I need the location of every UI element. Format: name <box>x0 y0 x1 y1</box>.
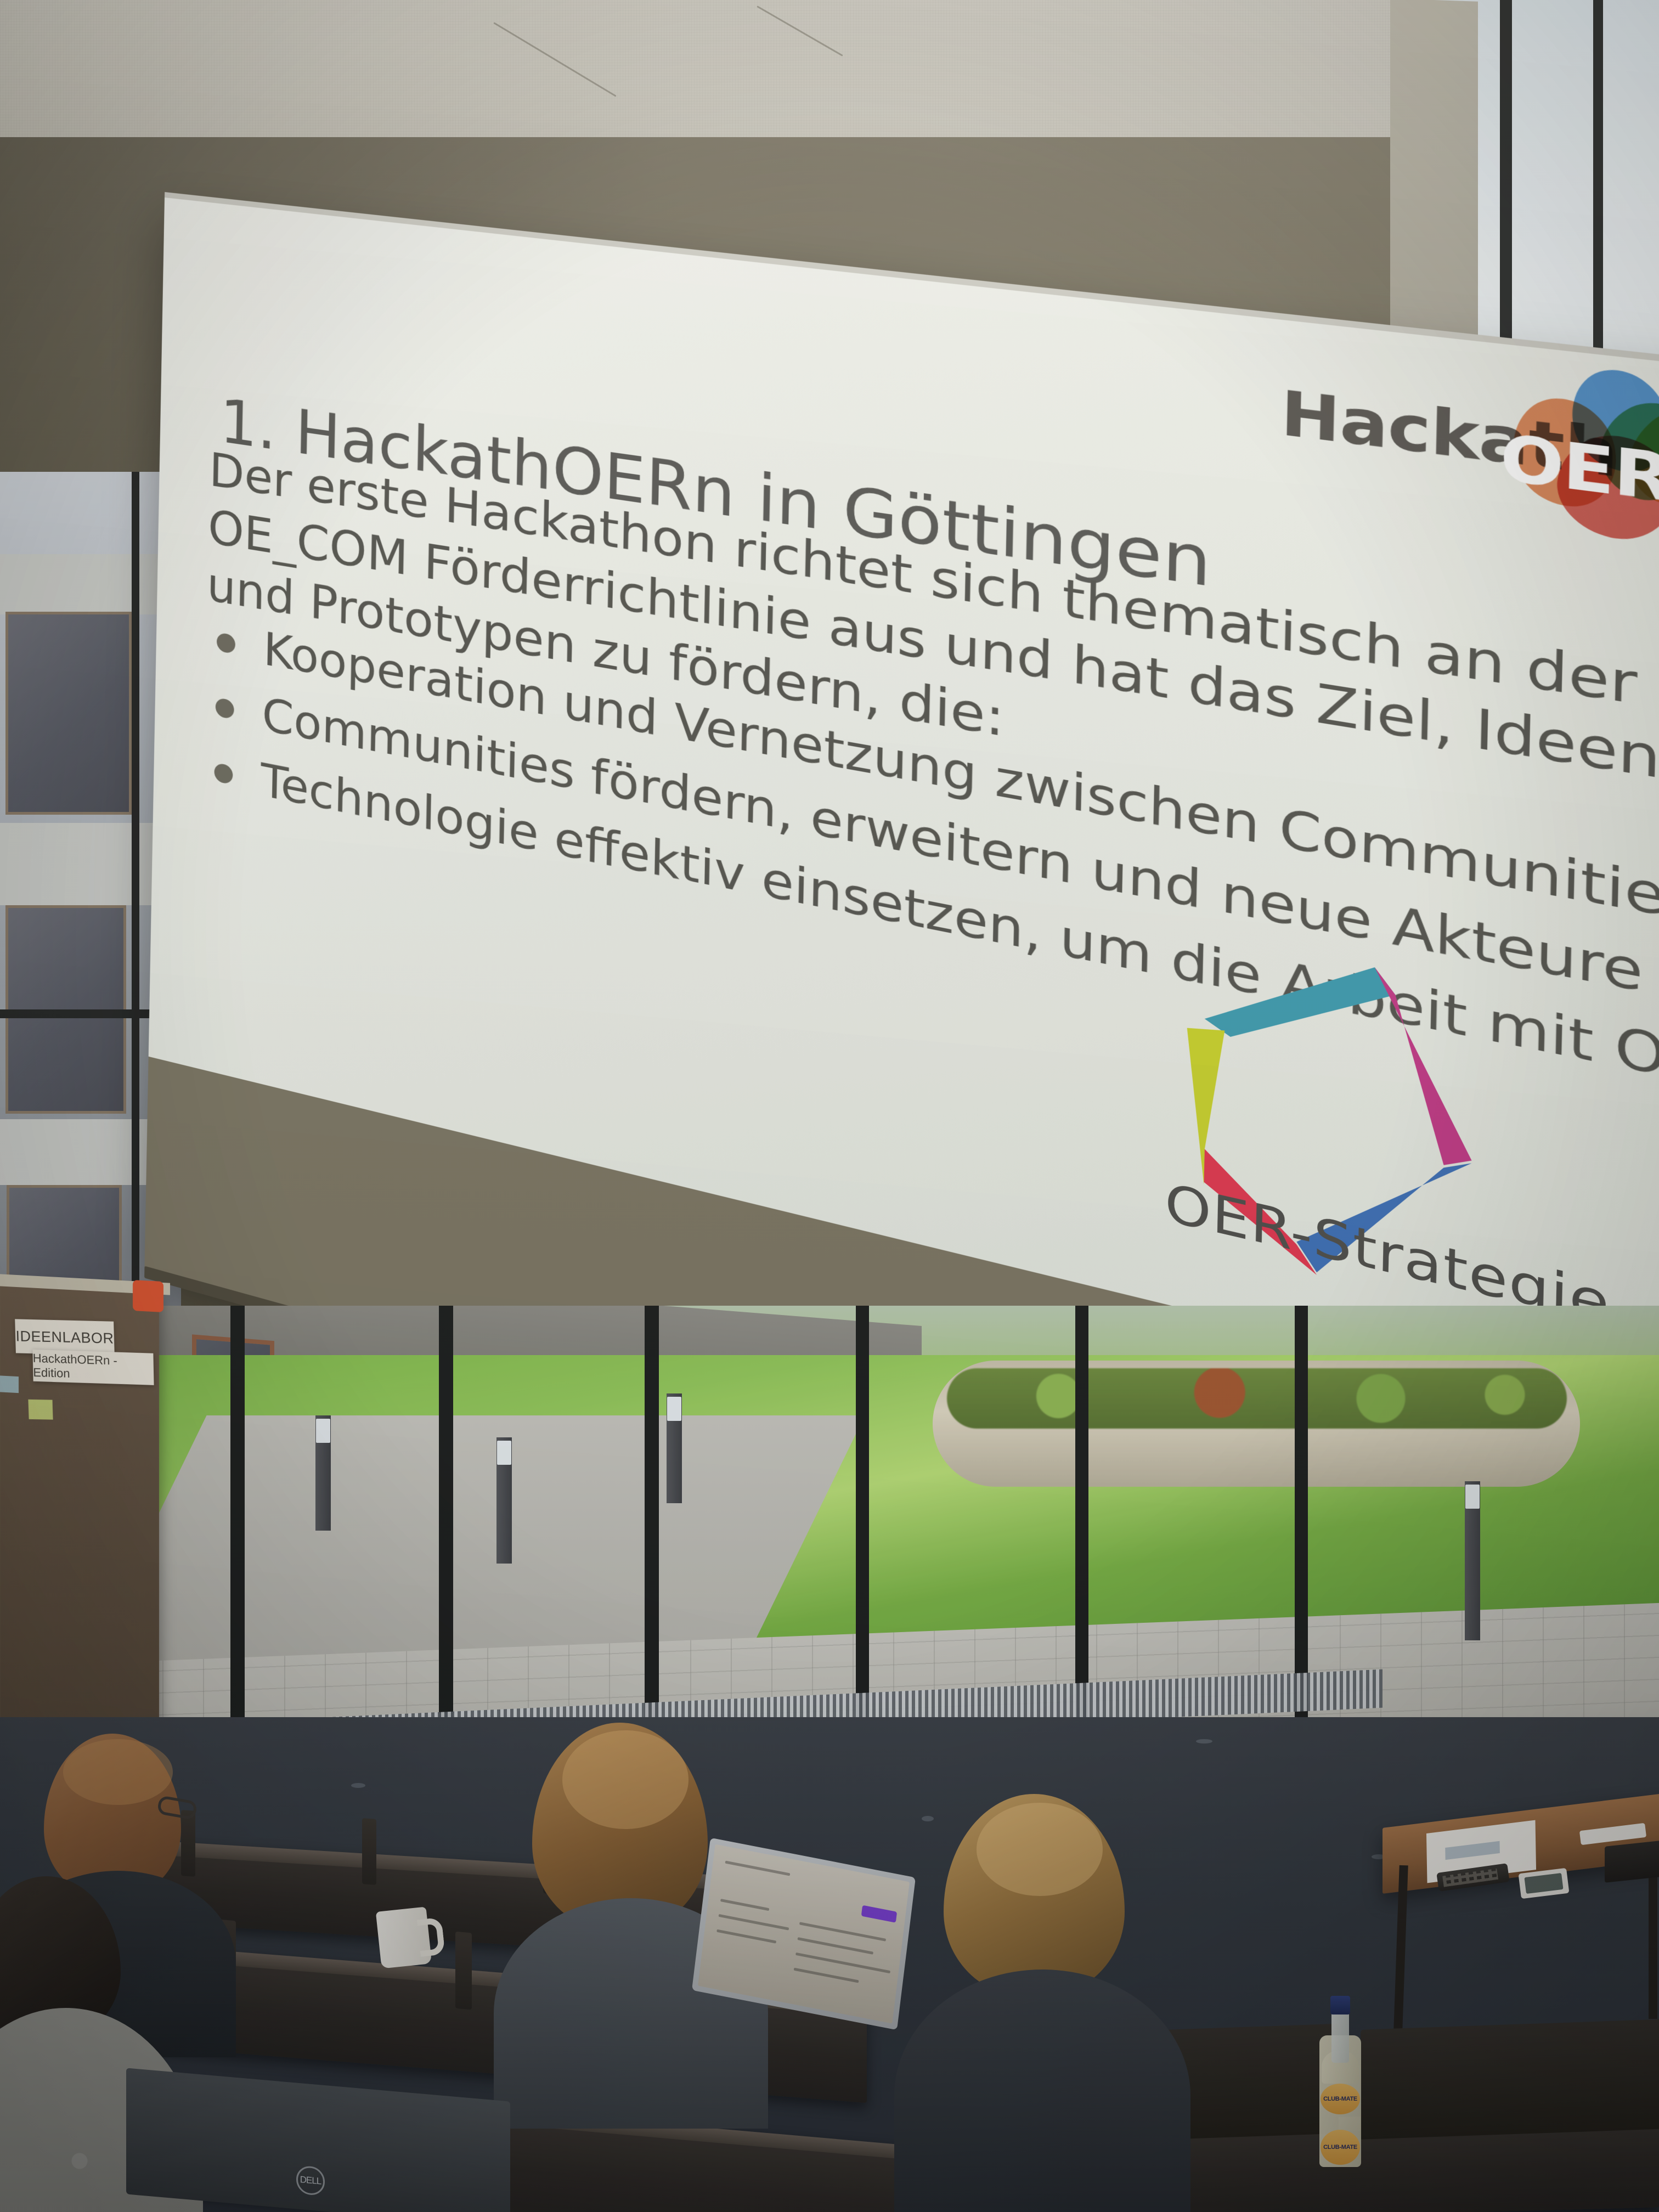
pinboard-sticky-note <box>28 1400 53 1420</box>
hackathoern-logo-blobs: OERn <box>1481 356 1659 552</box>
bottle-neck <box>1331 2008 1349 2063</box>
laptop-screen-accent-button <box>861 1905 897 1923</box>
bottle-label-bottom: CLUB-MATE <box>1321 2130 1360 2165</box>
bench-divider <box>455 1932 472 2010</box>
paper-printed-mark <box>1445 1841 1500 1860</box>
desk-control-panel <box>1605 1840 1659 1883</box>
person-shoulders <box>894 1970 1190 2212</box>
bollard-light <box>1465 1481 1480 1640</box>
pinboard-sign-hackathoern-edition: HackathOERn - Edition <box>32 1350 154 1385</box>
bottle-label-top: CLUB-MATE <box>1321 2084 1360 2114</box>
courtyard-planter-bed <box>933 1361 1580 1487</box>
photo-scene: Hackath OERn 1.HackathOERn in Götti <box>0 0 1659 2212</box>
bollard-light <box>315 1415 331 1531</box>
club-mate-bottle: CLUB-MATE CLUB-MATE <box>1319 1986 1361 2167</box>
pinboard-corner-cap <box>133 1280 163 1312</box>
pinboard-note-blue <box>0 1375 19 1393</box>
planter-vegetation <box>947 1368 1567 1429</box>
bench-divider <box>362 1818 376 1885</box>
seat-back <box>1361 2019 1659 2140</box>
bollard-light <box>496 1437 512 1564</box>
laptop-screen[interactable] <box>698 1844 910 2024</box>
bottle-cap <box>1330 1996 1350 2015</box>
phone-screen <box>1524 1873 1563 1894</box>
lectern-leg <box>1649 1854 1657 2019</box>
bollard-light <box>667 1393 682 1503</box>
bench-divider <box>181 1810 195 1877</box>
dell-logo: DELL <box>296 2165 325 2197</box>
hackathoern-logo: Hackath OERn <box>1279 333 1659 552</box>
coffee-mug <box>376 1906 432 1968</box>
